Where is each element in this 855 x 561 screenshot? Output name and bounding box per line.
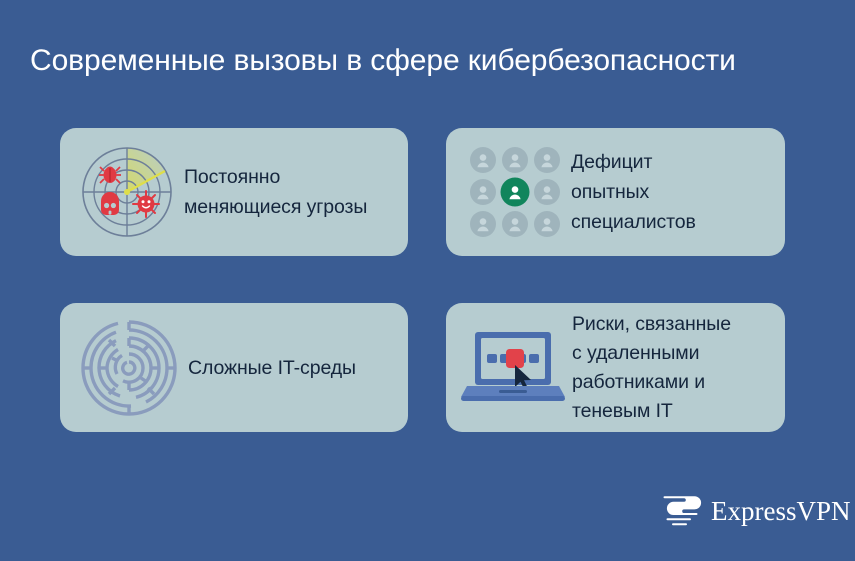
card-talent-shortage-label: Дефицит опытных специалистов	[571, 147, 785, 237]
card-remote-shadow-it-label: Риски, связанные с удаленными работникам…	[572, 310, 785, 426]
expressvpn-logo-mark-icon	[660, 494, 702, 528]
card-remote-shadow-it: Риски, связанные с удаленными работникам…	[446, 303, 785, 432]
people-grid-icon	[462, 146, 567, 238]
brand-logo: ExpressVPN	[660, 490, 830, 532]
page-title: Современные вызовы в сфере кибербезопасн…	[30, 42, 830, 80]
card-threats: Постоянно меняющиеся угрозы	[60, 128, 408, 256]
laptop-cursor-icon	[458, 328, 568, 408]
maze-icon	[70, 318, 188, 418]
card-threats-label: Постоянно меняющиеся угрозы	[184, 162, 408, 222]
brand-wordmark: ExpressVPN	[711, 496, 851, 526]
card-talent-shortage: Дефицит опытных специалистов	[446, 128, 785, 256]
card-complex-it: Сложные IT-среды	[60, 303, 408, 432]
card-complex-it-label: Сложные IT-среды	[188, 353, 408, 383]
slide-canvas: Современные вызовы в сфере кибербезопасн…	[0, 0, 855, 561]
radar-threats-icon	[72, 142, 182, 242]
